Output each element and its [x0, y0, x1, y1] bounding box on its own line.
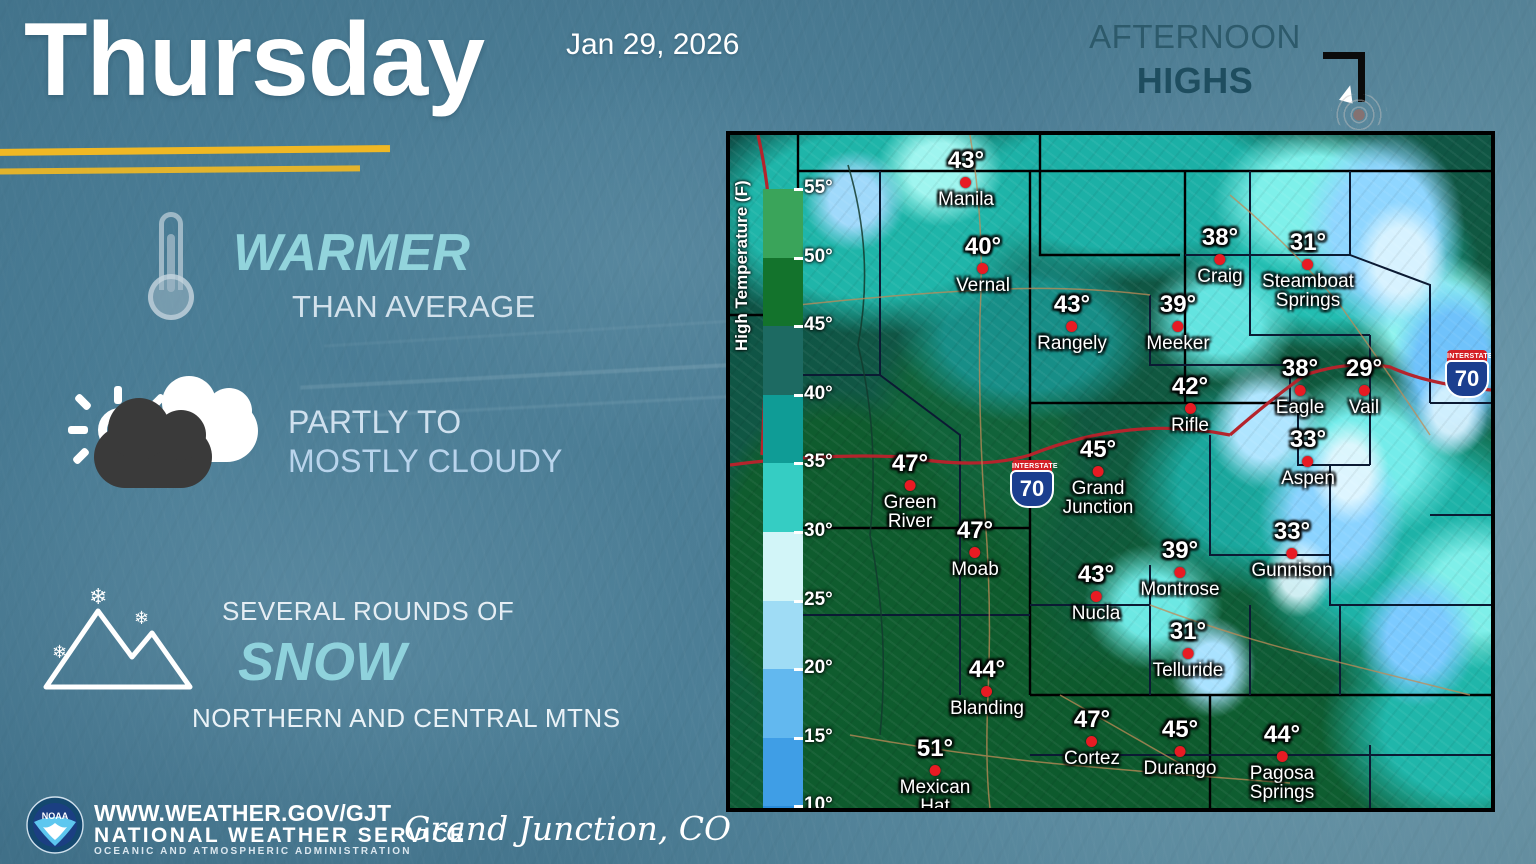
city-marker[interactable]: 45°Durango — [1144, 718, 1217, 778]
city-temperature: 42° — [1171, 375, 1209, 399]
city-dot-icon — [960, 177, 971, 188]
svg-text:NOAA: NOAA — [42, 811, 69, 821]
city-dot-icon — [1294, 385, 1305, 396]
city-marker[interactable]: 47°Cortez — [1064, 708, 1120, 768]
colorbar-tick-label: 35° — [804, 451, 833, 473]
shield-number: 70 — [1445, 360, 1489, 398]
period-label: AFTERNOON — [1080, 18, 1310, 56]
city-dot-icon — [930, 765, 941, 776]
city-name: Gunnison — [1251, 561, 1332, 580]
city-dot-icon — [1358, 385, 1369, 396]
city-temperature: 39° — [1146, 293, 1209, 317]
city-temperature: 38° — [1276, 357, 1325, 381]
colorbar-swatch — [763, 463, 803, 532]
city-dot-icon — [1174, 746, 1185, 757]
colorbar-swatch — [763, 189, 803, 258]
colorbar-swatch — [763, 669, 803, 738]
city-temperature: 31° — [1262, 231, 1354, 255]
colorbar-swatch — [763, 532, 803, 601]
feature-snow-primary: SNOW — [238, 631, 406, 693]
temperature-map[interactable]: High Temperature (F) 55°50°45°40°35°30°2… — [726, 131, 1495, 812]
colorbar-tick-label: 20° — [804, 657, 833, 679]
city-name: Rangely — [1037, 334, 1107, 353]
city-dot-icon — [978, 263, 989, 274]
city-dot-icon — [905, 480, 916, 491]
feature-cloudy-primary: PARTLY TO — [288, 404, 461, 441]
city-marker[interactable]: 33°Aspen — [1281, 428, 1335, 488]
city-dot-icon — [1174, 567, 1185, 578]
city-marker[interactable]: 42°Rifle — [1171, 375, 1209, 435]
city-temperature: 33° — [1281, 428, 1335, 452]
city-name: Telluride — [1153, 661, 1224, 680]
city-name: Moab — [951, 560, 999, 579]
nws-website-link[interactable]: WWW.WEATHER.GOV/GJT — [94, 800, 391, 827]
thermometer-icon — [140, 212, 202, 320]
city-temperature: 31° — [1153, 620, 1224, 644]
city-temperature: 29° — [1346, 357, 1382, 381]
city-temperature: 47° — [951, 519, 999, 543]
colorbar-swatch — [763, 601, 803, 670]
colorbar-swatch — [763, 738, 803, 807]
city-marker[interactable]: 39°Meeker — [1146, 293, 1209, 353]
snowy-mountain-icon: ❄ ❄ ❄ — [40, 595, 220, 695]
city-name: GreenRiver — [884, 493, 937, 532]
colorbar-swatch — [763, 395, 803, 464]
nws-parent-agency: OCEANIC AND ATMOSPHERIC ADMINISTRATION — [94, 846, 412, 857]
city-marker[interactable]: 45°GrandJunction — [1063, 438, 1134, 518]
city-dot-icon — [981, 686, 992, 697]
colorbar-tick-label: 15° — [804, 726, 833, 748]
city-marker[interactable]: 43°Nucla — [1072, 563, 1121, 623]
colorbar-tick-label: 30° — [804, 520, 833, 542]
city-temperature: 40° — [956, 235, 1010, 259]
city-marker[interactable]: 39°Montrose — [1140, 539, 1219, 599]
city-marker[interactable]: 47°GreenRiver — [884, 452, 937, 532]
city-temperature: 33° — [1251, 520, 1332, 544]
shield-number: 70 — [1010, 470, 1054, 508]
city-name: Blanding — [950, 699, 1024, 718]
colorbar — [763, 189, 803, 812]
city-dot-icon — [1303, 456, 1314, 467]
city-marker[interactable]: 51°MexicanHat — [900, 737, 971, 812]
colorbar-axis-label: High Temperature (F) — [732, 180, 752, 351]
city-name: Aspen — [1281, 469, 1335, 488]
city-temperature: 43° — [1037, 293, 1107, 317]
colorbar-tick-label: 45° — [804, 314, 833, 336]
city-name: Manila — [938, 190, 994, 209]
city-marker[interactable]: 29°Vail — [1346, 357, 1382, 417]
city-dot-icon — [1184, 403, 1195, 414]
city-temperature: 44° — [1250, 723, 1314, 747]
feature-warmer-primary: WARMER — [233, 223, 470, 283]
city-dot-icon — [1087, 736, 1098, 747]
colorbar-tick-label: 55° — [804, 177, 833, 199]
city-marker[interactable]: 44°PagosaSprings — [1250, 723, 1314, 803]
city-name: Cortez — [1064, 749, 1120, 768]
city-marker[interactable]: 31°SteamboatSprings — [1262, 231, 1354, 311]
city-dot-icon — [1172, 321, 1183, 332]
metric-label: HIGHS — [1080, 60, 1310, 102]
city-name: PagosaSprings — [1250, 764, 1314, 803]
city-dot-icon — [1093, 466, 1104, 477]
city-dot-icon — [1182, 648, 1193, 659]
forecast-office-name: Grand Junction, CO — [404, 812, 731, 847]
click-ripple-indicator — [1331, 94, 1387, 130]
city-temperature: 43° — [1072, 563, 1121, 587]
city-temperature: 47° — [1064, 708, 1120, 732]
noaa-logo-icon: NOAA — [26, 796, 84, 854]
colorbar-tick-label: 40° — [804, 383, 833, 405]
city-temperature: 47° — [884, 452, 937, 476]
city-name: Nucla — [1072, 604, 1121, 623]
day-title: Thursday — [24, 2, 484, 118]
city-marker[interactable]: 43°Manila — [938, 149, 994, 209]
city-temperature: 51° — [900, 737, 971, 761]
colorbar-tick-label: 10° — [804, 794, 833, 812]
city-name: MexicanHat — [900, 778, 971, 812]
city-name: Vernal — [956, 276, 1010, 295]
city-marker[interactable]: 44°Blanding — [950, 658, 1024, 718]
city-name: GrandJunction — [1063, 479, 1134, 518]
city-name: Craig — [1197, 267, 1242, 286]
city-marker[interactable]: 38°Craig — [1197, 226, 1242, 286]
city-name: Eagle — [1276, 398, 1325, 417]
feature-snow-secondary: NORTHERN AND CENTRAL MTNS — [192, 703, 621, 734]
city-marker[interactable]: 40°Vernal — [956, 235, 1010, 295]
city-name: Meeker — [1146, 334, 1209, 353]
feature-warmer-secondary: THAN AVERAGE — [292, 289, 536, 325]
city-dot-icon — [1303, 259, 1314, 270]
city-dot-icon — [1287, 548, 1298, 559]
colorbar-tick-label: 25° — [804, 589, 833, 611]
city-temperature: 39° — [1140, 539, 1219, 563]
interstate-shield-icon: INTERSTATE70 — [1010, 460, 1054, 508]
city-name: Durango — [1144, 759, 1217, 778]
colorbar-swatch — [763, 326, 803, 395]
city-marker[interactable]: 47°Moab — [951, 519, 999, 579]
colorbar-tick-label: 50° — [804, 246, 833, 268]
city-marker[interactable]: 38°Eagle — [1276, 357, 1325, 417]
city-marker[interactable]: 33°Gunnison — [1251, 520, 1332, 580]
feature-snow-lead: SEVERAL ROUNDS OF — [222, 596, 514, 627]
city-dot-icon — [1067, 321, 1078, 332]
city-marker[interactable]: 43°Rangely — [1037, 293, 1107, 353]
city-dot-icon — [970, 547, 981, 558]
city-temperature: 44° — [950, 658, 1024, 682]
city-name: SteamboatSprings — [1262, 272, 1354, 311]
city-temperature: 43° — [938, 149, 994, 173]
city-dot-icon — [1090, 591, 1101, 602]
city-dot-icon — [1276, 751, 1287, 762]
city-name: Vail — [1346, 398, 1382, 417]
city-marker[interactable]: 31°Telluride — [1153, 620, 1224, 680]
date-label: Jan 29, 2026 — [566, 28, 739, 62]
city-dot-icon — [1215, 254, 1226, 265]
interstate-shield-icon: INTERSTATE70 — [1445, 350, 1489, 398]
colorbar-swatch — [763, 258, 803, 327]
city-name: Rifle — [1171, 416, 1209, 435]
city-temperature: 38° — [1197, 226, 1242, 250]
feature-cloudy-secondary: MOSTLY CLOUDY — [288, 443, 563, 480]
city-name: Montrose — [1140, 580, 1219, 599]
city-temperature: 45° — [1063, 438, 1134, 462]
sun-cloud-icon — [62, 386, 272, 496]
city-temperature: 45° — [1144, 718, 1217, 742]
